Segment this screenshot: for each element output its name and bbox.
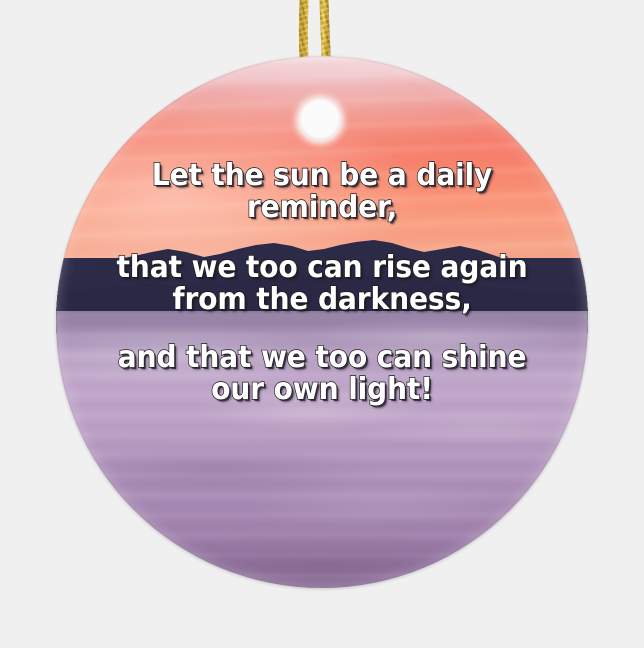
ornament-hanging-hole xyxy=(300,100,340,140)
cloud-sea-streaks xyxy=(56,311,588,588)
ornament-product-image: Let the sun be a daily reminder, that we… xyxy=(0,0,644,644)
